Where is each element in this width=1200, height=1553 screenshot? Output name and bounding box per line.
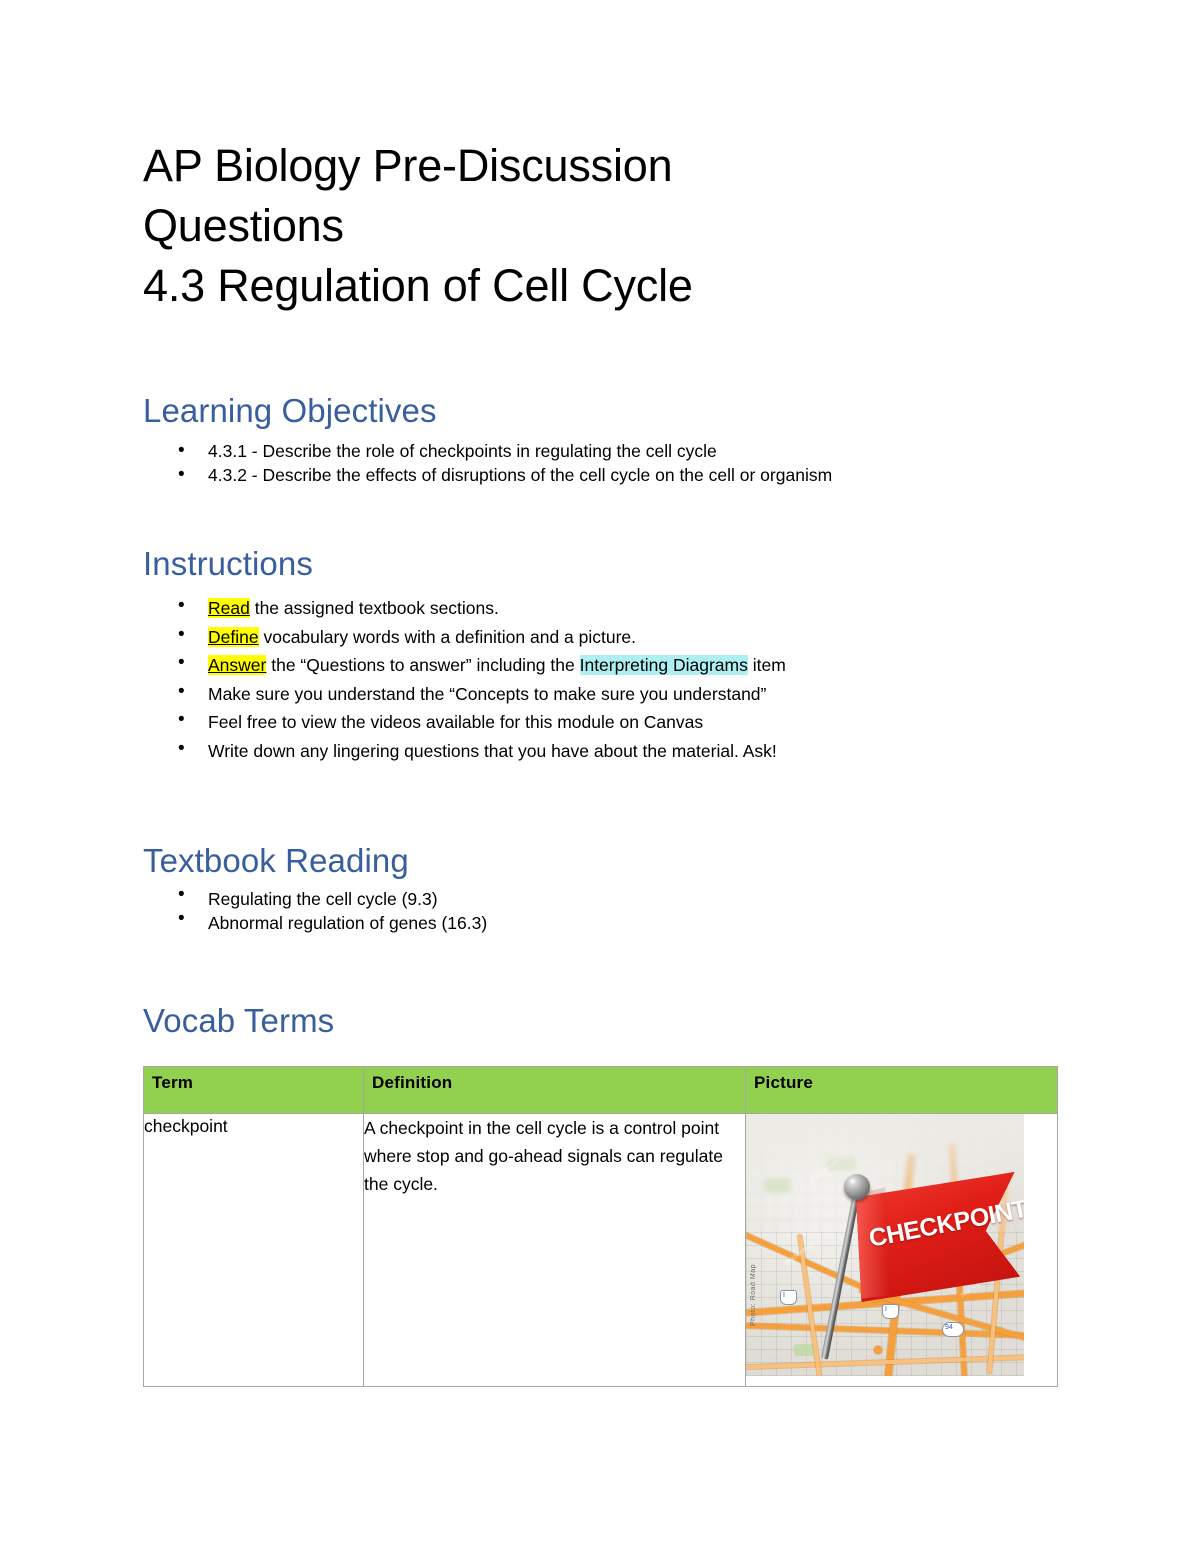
instruction-text-tail: item [748,655,786,675]
document-page: AP Biology Pre-Discussion Questions 4.3 … [0,0,1200,1553]
instruction-text: the “Questions to answer” including the [266,655,579,675]
highlight-interpreting-diagrams: Interpreting Diagrams [580,655,748,675]
cell-definition: A checkpoint in the cell cycle is a cont… [364,1114,746,1387]
list-item: Define vocabulary words with a definitio… [143,623,1058,652]
title-line-1: AP Biology Pre-Discussion [143,136,973,196]
list-item: 4.3.2 - Describe the effects of disrupti… [143,463,1058,487]
instruction-text: Feel free to view the videos available f… [208,712,703,732]
interstate-shield-icon: I [780,1290,797,1305]
highlight-define: Define [208,627,259,647]
column-header-definition: Definition [364,1067,746,1114]
instruction-text: Make sure you understand the “Concepts t… [208,684,766,704]
cell-picture: I I 94 stock photo stock photo stock pho… [746,1114,1058,1387]
column-header-term: Term [144,1067,364,1114]
list-textbook-reading: Regulating the cell cycle (9.3) Abnormal… [143,887,1058,935]
instruction-text: the assigned textbook sections. [250,598,499,618]
interstate-shield-icon: I [882,1304,899,1319]
section-vocab-terms: Vocab Terms [143,1002,1058,1040]
title-line-2: Questions [143,196,973,256]
reading-text: Abnormal regulation of genes (16.3) [208,913,487,933]
highlight-read: Read [208,598,250,618]
table-header-row: Term Definition Picture [144,1067,1058,1114]
section-learning-objectives: Learning Objectives 4.3.1 - Describe the… [143,392,1058,487]
page-title: AP Biology Pre-Discussion Questions 4.3 … [143,136,973,316]
instruction-text: Write down any lingering questions that … [208,741,777,761]
list-item: Regulating the cell cycle (9.3) [143,887,1058,911]
image-side-caption: Photo: Road Map [750,1264,757,1326]
map-interchange [874,1346,882,1354]
list-item: Feel free to view the videos available f… [143,708,1058,737]
list-item: Write down any lingering questions that … [143,737,1058,766]
column-header-picture: Picture [746,1067,1058,1114]
objective-text: 4.3.1 - Describe the role of checkpoints… [208,441,717,461]
vocab-terms-table: Term Definition Picture checkpoint A che… [143,1066,1058,1387]
list-item: Read the assigned textbook sections. [143,594,1058,623]
section-textbook-reading: Textbook Reading Regulating the cell cyc… [143,842,1058,935]
heading-learning-objectives: Learning Objectives [143,392,1058,430]
pin-head-icon [844,1174,870,1200]
heading-textbook-reading: Textbook Reading [143,842,1058,880]
list-learning-objectives: 4.3.1 - Describe the role of checkpoints… [143,439,1058,487]
list-item: 4.3.1 - Describe the role of checkpoints… [143,439,1058,463]
reading-text: Regulating the cell cycle (9.3) [208,889,438,909]
document-title: AP Biology Pre-Discussion Questions 4.3 … [143,136,973,316]
table-row: checkpoint A checkpoint in the cell cycl… [144,1114,1058,1387]
heading-vocab-terms: Vocab Terms [143,1002,1058,1040]
section-instructions: Instructions Read the assigned textbook … [143,545,1058,765]
objective-text: 4.3.2 - Describe the effects of disrupti… [208,465,832,485]
highlight-answer: Answer [208,655,266,675]
list-item: Make sure you understand the “Concepts t… [143,680,1058,709]
checkpoint-flag-image: I I 94 stock photo stock photo stock pho… [746,1114,1024,1376]
list-item: Abnormal regulation of genes (16.3) [143,911,1058,935]
title-line-3: 4.3 Regulation of Cell Cycle [143,256,973,316]
cell-term: checkpoint [144,1114,364,1387]
list-instructions: Read the assigned textbook sections. Def… [143,594,1058,765]
instruction-text: vocabulary words with a definition and a… [259,627,636,647]
heading-instructions: Instructions [143,545,1058,583]
list-item: Answer the “Questions to answer” includi… [143,651,1058,680]
route-marker-icon: 94 [942,1322,964,1337]
